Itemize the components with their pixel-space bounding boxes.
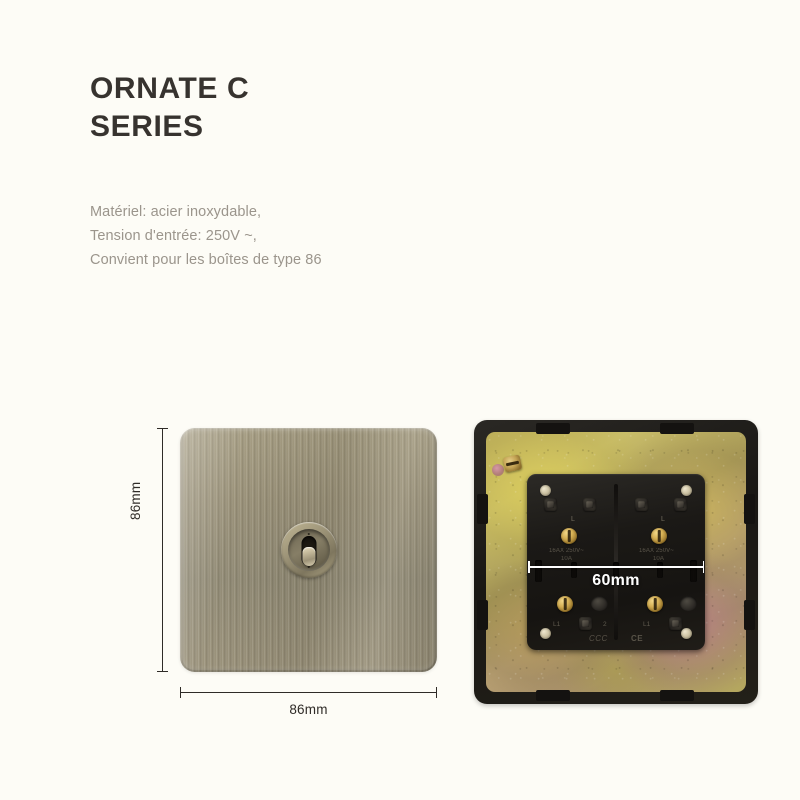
frame-notch-bottom-left (536, 690, 570, 701)
terminal-screw-top-4 (674, 498, 687, 511)
dimension-line-60mm (528, 566, 704, 568)
back-view-figure: L L 16AX 250V~ 10A 16AX 250V~ 10A (474, 420, 758, 704)
description-line-material: Matériel: acier inoxydable, (90, 200, 520, 224)
label-terminal-2: 2 (603, 621, 607, 628)
dimension-cap-left (180, 687, 181, 698)
front-view-figure: 86mm 86mm (130, 420, 450, 730)
frame-notch-right-top (744, 494, 755, 524)
product-description: Matériel: acier inoxydable, Tension d'en… (90, 200, 520, 272)
rating-text-left: 16AX 250V~ (549, 548, 584, 554)
plate-iridescence-spot (492, 464, 504, 476)
frame-notch-left-top (477, 494, 488, 524)
toggle-switch[interactable] (281, 522, 337, 578)
label-live-right: L (661, 516, 665, 523)
page-title: ORNATE C SERIES (90, 70, 510, 146)
mechanism-rivet-bottom-left (540, 628, 551, 639)
rating-amp-left: 10A (561, 556, 572, 562)
dimension-label-width: 86mm (180, 702, 437, 717)
product-spec-page: ORNATE C SERIES Matériel: acier inoxydab… (0, 0, 800, 800)
dimension-line-vertical (162, 428, 163, 672)
ce-certification-mark: CE (631, 634, 643, 643)
brass-terminal-top-right (651, 528, 667, 544)
bezel-screw-top (307, 533, 310, 536)
frame-notch-bottom-right (660, 690, 694, 701)
terminal-screw-top-2 (583, 498, 596, 511)
dimension-label-height: 86mm (128, 482, 143, 520)
mechanism-rivet-top-right (681, 485, 692, 496)
terminal-hole-right (680, 596, 697, 611)
label-live-left: L (571, 516, 575, 523)
faceplate (180, 428, 437, 672)
frame-notch-left-bottom (477, 600, 488, 630)
label-terminal-1: L1 (553, 621, 560, 628)
label-terminal-3: L1 (643, 621, 650, 628)
dimension-label-60mm: 60mm (528, 572, 704, 590)
terminal-screw-bottom-2 (669, 617, 682, 630)
description-line-voltage: Tension d'entrée: 250V ~, (90, 224, 520, 248)
toggle-lever[interactable] (302, 547, 315, 566)
mechanism-rivet-bottom-right (681, 628, 692, 639)
description-line-boxtype: Convient pour les boîtes de type 86 (90, 248, 520, 272)
terminal-screw-top-1 (544, 498, 557, 511)
brass-terminal-bottom-left (557, 596, 573, 612)
switch-mechanism: L L 16AX 250V~ 10A 16AX 250V~ 10A (527, 474, 705, 650)
brass-terminal-bottom-right (647, 596, 663, 612)
title-line-1: ORNATE C (90, 70, 510, 108)
ccc-certification-mark: CCC (589, 634, 608, 643)
title-line-2: SERIES (90, 108, 510, 146)
brass-terminal-top-left (561, 528, 577, 544)
rating-text-right: 16AX 250V~ (639, 548, 674, 554)
dimension-cap-right (436, 687, 437, 698)
terminal-hole-left (591, 596, 608, 611)
frame-notch-top-left (536, 423, 570, 434)
dimension-line-horizontal (180, 692, 437, 693)
dimension-cap-top (157, 428, 168, 429)
frame-notch-right-bottom (744, 600, 755, 630)
dimension-cap-bottom (157, 671, 168, 672)
frame-notch-top-right (660, 423, 694, 434)
terminal-screw-top-3 (635, 498, 648, 511)
terminal-screw-bottom-1 (579, 617, 592, 630)
back-frame: L L 16AX 250V~ 10A 16AX 250V~ 10A (474, 420, 758, 704)
mechanism-rivet-top-left (540, 485, 551, 496)
